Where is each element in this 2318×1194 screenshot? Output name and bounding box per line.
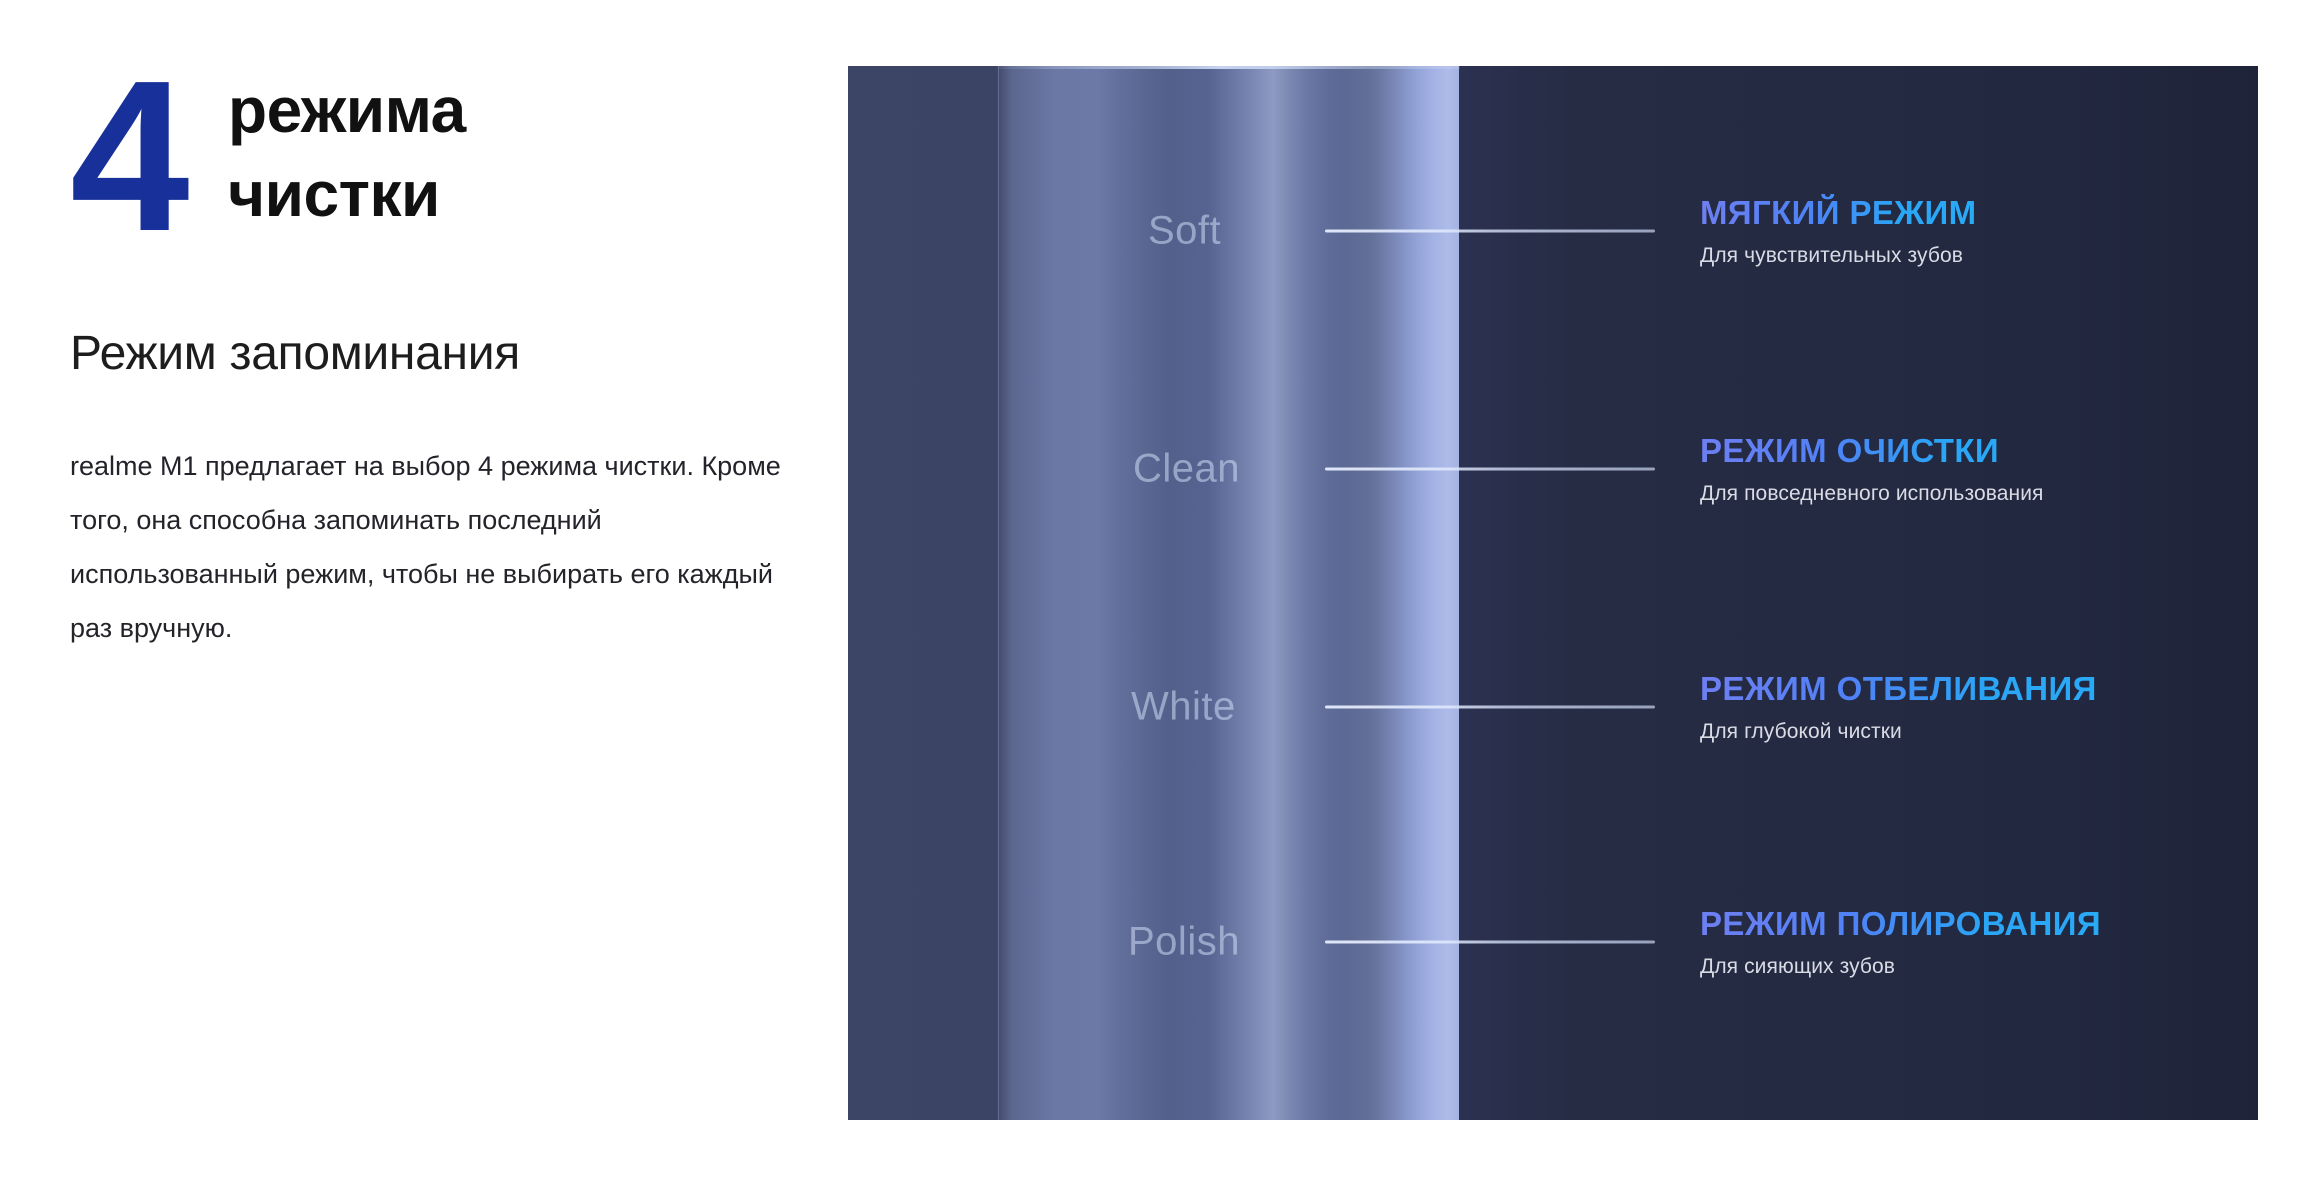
mode-en-label: Polish [1128,920,1240,965]
mode-subtitle: Для повседневного использования [1700,481,2044,506]
mode-title: РЕЖИМ ОТБЕЛИВАНИЯ [1700,670,2097,709]
mode-connector-line [1325,468,1655,471]
mode-text-group: РЕЖИМ ОЧИСТКИ Для повседневного использо… [1700,432,2044,506]
product-image-panel: Soft МЯГКИЙ РЕЖИМ Для чувствительных зуб… [848,66,2258,1120]
mode-subtitle: Для глубокой чистки [1700,719,2097,744]
mode-subtitle: Для чувствительных зубов [1700,243,1977,268]
mode-text-group: РЕЖИМ ОТБЕЛИВАНИЯ Для глубокой чистки [1700,670,2097,744]
mode-en-label: White [1131,685,1236,730]
left-content-column: 4 режима чистки Режим запоминания realme… [70,60,790,655]
mode-title: МЯГКИЙ РЕЖИМ [1700,194,1977,233]
mode-connector-line [1325,230,1655,233]
mode-connector-line [1325,941,1655,944]
cylinder-left-edge [998,66,999,1120]
mode-connector-line [1325,706,1655,709]
cylinder-right-edge [1458,66,1459,1120]
cylinder-top-glow [998,66,1460,69]
mode-title: РЕЖИМ ОЧИСТКИ [1700,432,2044,471]
mode-en-label: Clean [1133,447,1240,492]
mode-text-group: РЕЖИМ ПОЛИРОВАНИЯ Для сияющих зубов [1700,905,2101,979]
headline-line-1: режима [228,68,466,152]
mode-title: РЕЖИМ ПОЛИРОВАНИЯ [1700,905,2101,944]
mode-subtitle: Для сияющих зубов [1700,954,2101,979]
headline-line-2: чистки [228,152,466,236]
headline-block: 4 режима чистки [70,60,790,290]
mode-en-label: Soft [1148,209,1221,254]
body-paragraph: realme M1 предлагает на выбор 4 режима ч… [70,439,800,655]
headline-words: режима чистки [228,68,466,237]
headline-number: 4 [70,48,186,263]
mode-text-group: МЯГКИЙ РЕЖИМ Для чувствительных зубов [1700,194,1977,268]
subheading: Режим запоминания [70,326,790,381]
